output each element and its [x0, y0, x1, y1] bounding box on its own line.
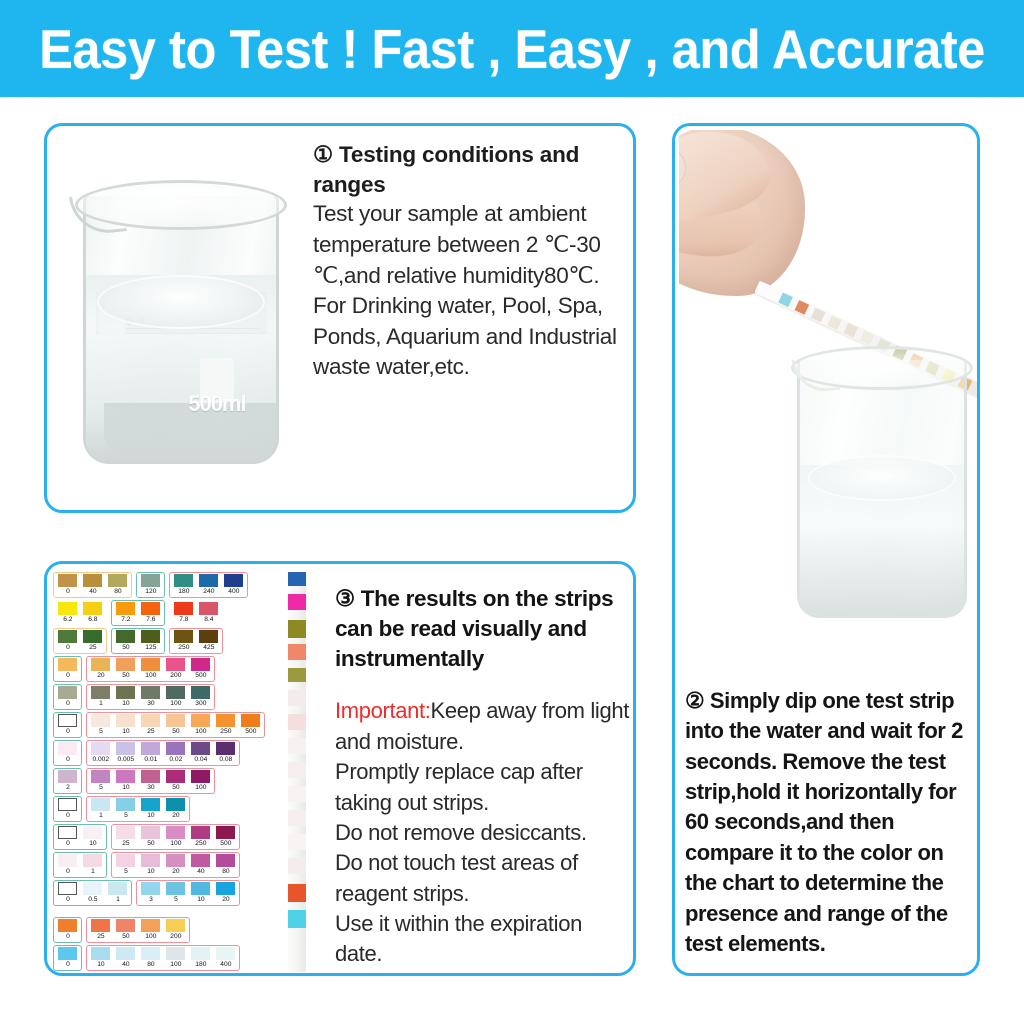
chart-swatch-cell: 250 — [213, 714, 238, 736]
chart-swatch-cell: 0 — [55, 919, 80, 941]
chart-swatch-cell: 0 — [55, 882, 80, 904]
color-swatch — [116, 798, 135, 811]
glass-illustration — [791, 342, 973, 632]
panel-results-reading: 040801201802404006.26.87.27.67.88.402550… — [44, 561, 636, 976]
chart-swatch-cell: 80 — [105, 574, 130, 596]
color-swatch — [141, 882, 160, 895]
chart-swatch-group: 010 — [53, 824, 107, 850]
hand-illustration — [679, 130, 805, 296]
chart-swatch-cell: 500 — [213, 826, 238, 848]
chart-row: 01510204080 — [53, 852, 295, 879]
swatch-value-label: 0.002 — [92, 755, 109, 764]
swatch-value-label: 7.2 — [121, 615, 130, 624]
swatch-value-label: 20 — [97, 671, 104, 680]
chart-swatch-cell: 80 — [213, 854, 238, 876]
color-swatch — [91, 686, 110, 699]
color-swatch — [191, 742, 210, 755]
chart-swatch-group: 2550100250500 — [111, 824, 240, 850]
chart-swatch-cell: 50 — [113, 658, 138, 680]
chart-swatch-group: 151020 — [86, 796, 190, 822]
swatch-value-label: 100 — [145, 671, 156, 680]
chart-row: 02550125250425 — [53, 628, 295, 655]
panel2-body: ② Simply dip one test strip into the wat… — [685, 686, 975, 959]
swatch-value-label: 100 — [145, 932, 156, 941]
strip-pad — [288, 910, 306, 928]
held-strip-pad — [778, 293, 793, 308]
chart-swatch-cell: 0 — [55, 686, 80, 708]
header-banner: Easy to Test ! Fast , Easy , and Accurat… — [0, 0, 1024, 97]
chart-swatch-cell: 40 — [113, 947, 138, 969]
color-swatch — [141, 574, 160, 587]
swatch-value-label: 50 — [122, 643, 129, 652]
panel3-body-line: Use it within the expiration — [335, 909, 631, 939]
color-swatch — [166, 658, 185, 671]
color-swatch — [58, 919, 77, 932]
chart-row: 25103050100 — [53, 768, 295, 795]
color-swatch — [199, 574, 218, 587]
swatch-value-label: 0 — [66, 587, 70, 596]
chart-swatch-group: 04080 — [53, 572, 132, 598]
page-title: Easy to Test ! Fast , Easy , and Accurat… — [39, 17, 985, 81]
glass-body — [797, 360, 967, 618]
chart-swatch-cell: 5 — [88, 770, 113, 792]
chart-swatch-group: 6.26.8 — [53, 600, 107, 626]
swatch-value-label: 500 — [245, 727, 256, 736]
swatch-value-label: 100 — [170, 839, 181, 848]
swatch-value-label: 0.01 — [144, 755, 157, 764]
panel1-body: Test your sample at ambient temperature … — [313, 199, 633, 383]
swatch-value-label: 30 — [147, 783, 154, 792]
chart-swatch-cell: 0.08 — [213, 742, 238, 764]
panel3-body-line: Promptly replace cap after — [335, 757, 631, 787]
chart-swatch-cell: 6.2 — [55, 602, 80, 624]
swatch-value-label: 5 — [99, 727, 103, 736]
chart-swatch-cell: 0 — [55, 947, 80, 969]
chart-swatch-cell: 100 — [163, 686, 188, 708]
swatch-value-label: 500 — [195, 671, 206, 680]
color-swatch — [141, 770, 160, 783]
color-swatch — [174, 630, 193, 643]
color-swatch — [141, 742, 160, 755]
swatch-value-label: 125 — [145, 643, 156, 652]
chart-swatch-cell: 7.8 — [171, 602, 196, 624]
swatch-value-label: 300 — [195, 699, 206, 708]
swatch-value-label: 250 — [178, 643, 189, 652]
chart-swatch-group: 0 — [53, 917, 82, 943]
chart-swatch-cell: 100 — [188, 714, 213, 736]
swatch-value-label: 0 — [66, 727, 70, 736]
strip-pad — [288, 858, 306, 874]
swatch-value-label: 0 — [66, 755, 70, 764]
chart-swatch-group: 120 — [136, 572, 165, 598]
swatch-value-label: 0 — [66, 699, 70, 708]
panel3-body-line: Do not remove desiccants. — [335, 818, 631, 848]
chart-swatch-group: 351020 — [136, 880, 240, 906]
chart-row: 02050100200500 — [53, 656, 295, 683]
chart-swatch-group: 00.51 — [53, 880, 132, 906]
color-swatch — [116, 854, 135, 867]
chart-swatch-cell: 0 — [55, 658, 80, 680]
chart-swatch-cell: 240 — [196, 574, 221, 596]
panel1-heading: ① Testing conditions and ranges — [313, 140, 633, 199]
swatch-value-label: 400 — [220, 960, 231, 969]
chart-swatch-cell: 5 — [163, 882, 188, 904]
color-swatch — [166, 686, 185, 699]
chart-swatch-cell: 10 — [138, 798, 163, 820]
color-swatch — [141, 947, 160, 960]
swatch-value-label: 3 — [149, 895, 153, 904]
swatch-value-label: 400 — [228, 587, 239, 596]
color-swatch — [224, 574, 243, 587]
held-strip-pad — [795, 300, 810, 315]
swatch-value-label: 6.8 — [88, 615, 97, 624]
chart-row: 02550100200 — [53, 917, 295, 944]
chart-swatch-cell: 100 — [163, 947, 188, 969]
chart-swatch-cell: 6.8 — [80, 602, 105, 624]
panel-dip-instructions: ② Simply dip one test strip into the wat… — [672, 123, 980, 976]
chart-swatch-cell: 5 — [113, 854, 138, 876]
swatch-value-label: 25 — [97, 932, 104, 941]
color-comparison-chart: 040801201802404006.26.87.27.67.88.402550… — [53, 572, 295, 973]
chart-swatch-group: 0 — [53, 656, 82, 682]
infographic-root: Easy to Test ! Fast , Easy , and Accurat… — [0, 0, 1024, 1024]
chart-row: 0102550100250500 — [53, 824, 295, 851]
swatch-value-label: 0 — [66, 671, 70, 680]
swatch-value-label: 500 — [220, 839, 231, 848]
swatch-value-label: 10 — [147, 867, 154, 876]
strip-pad — [288, 572, 306, 586]
strip-pad — [288, 714, 306, 730]
chart-swatch-cell: 125 — [138, 630, 163, 652]
swatch-value-label: 80 — [114, 587, 121, 596]
swatch-value-label: 0.5 — [88, 895, 97, 904]
color-swatch — [116, 630, 135, 643]
swatch-value-label: 0 — [66, 839, 70, 848]
swatch-value-label: 10 — [197, 895, 204, 904]
chart-row: 04080120180240400 — [53, 572, 295, 599]
color-swatch — [166, 826, 185, 839]
chart-swatch-cell: 20 — [163, 798, 188, 820]
color-swatch — [83, 882, 102, 895]
chart-swatch-cell: 10 — [138, 854, 163, 876]
color-swatch — [91, 714, 110, 727]
color-swatch — [216, 826, 235, 839]
chart-row: 05102550100250500 — [53, 712, 295, 739]
chart-swatch-cell: 50 — [163, 770, 188, 792]
swatch-value-label: 6.2 — [63, 615, 72, 624]
chart-swatch-cell: 0.02 — [163, 742, 188, 764]
chart-swatch-group: 0 — [53, 684, 82, 710]
strip-pad — [288, 668, 306, 682]
color-swatch — [58, 947, 77, 960]
chart-swatch-cell: 0.005 — [113, 742, 138, 764]
strip-pad — [288, 834, 306, 850]
chart-swatch-cell: 500 — [238, 714, 263, 736]
chart-swatch-cell: 10 — [113, 686, 138, 708]
chart-swatch-cell: 10 — [113, 770, 138, 792]
color-swatch — [166, 714, 185, 727]
swatch-value-label: 5 — [99, 783, 103, 792]
chart-swatch-group: 0 — [53, 712, 82, 738]
color-swatch — [58, 826, 77, 839]
chart-swatch-group: 5103050100 — [86, 768, 215, 794]
chart-swatch-group: 7.27.6 — [111, 600, 165, 626]
chart-swatch-cell: 7.2 — [113, 602, 138, 624]
swatch-value-label: 40 — [122, 960, 129, 969]
strip-pad — [288, 690, 306, 706]
color-swatch — [83, 574, 102, 587]
chart-swatch-group: 104080100180400 — [86, 945, 240, 971]
swatch-value-label: 100 — [195, 727, 206, 736]
color-swatch — [166, 770, 185, 783]
swatch-value-label: 425 — [203, 643, 214, 652]
beaker-body: 4 08 500ml — [83, 196, 279, 464]
swatch-value-label: 100 — [170, 960, 181, 969]
chart-swatch-cell: 50 — [113, 630, 138, 652]
swatch-value-label: 100 — [170, 699, 181, 708]
swatch-value-label: 0.005 — [117, 755, 134, 764]
chart-swatch-cell: 0.01 — [138, 742, 163, 764]
chart-swatch-cell: 0.002 — [88, 742, 113, 764]
chart-swatch-cell: 425 — [196, 630, 221, 652]
chart-swatch-cell: 200 — [163, 919, 188, 941]
color-swatch — [241, 714, 260, 727]
color-swatch — [191, 714, 210, 727]
chart-swatch-cell: 0.5 — [80, 882, 105, 904]
color-swatch — [191, 826, 210, 839]
chart-swatch-cell: 30 — [138, 686, 163, 708]
chart-swatch-group: 025 — [53, 628, 107, 654]
color-swatch — [191, 686, 210, 699]
swatch-value-label: 50 — [122, 671, 129, 680]
panel3-body: Important:Keep away from light and moist… — [335, 696, 631, 969]
swatch-value-label: 50 — [122, 932, 129, 941]
swatch-value-label: 0 — [66, 895, 70, 904]
strip-pad — [288, 810, 306, 826]
swatch-value-label: 10 — [147, 811, 154, 820]
swatch-value-label: 20 — [172, 867, 179, 876]
color-swatch — [91, 742, 110, 755]
chart-swatch-cell: 180 — [188, 947, 213, 969]
swatch-value-label: 7.8 — [179, 615, 188, 624]
chart-swatch-cell: 0 — [55, 854, 80, 876]
chart-swatch-group: 2050100200500 — [86, 656, 215, 682]
swatch-value-label: 1 — [91, 867, 95, 876]
strip-pad — [288, 884, 306, 902]
chart-swatch-group: 2 — [53, 768, 82, 794]
color-swatch — [191, 882, 210, 895]
chart-swatch-cell: 400 — [221, 574, 246, 596]
color-swatch — [216, 854, 235, 867]
color-swatch — [91, 947, 110, 960]
chart-swatch-cell: 20 — [213, 882, 238, 904]
chart-swatch-cell: 10 — [188, 882, 213, 904]
color-swatch — [166, 882, 185, 895]
color-swatch — [141, 658, 160, 671]
swatch-value-label: 7.6 — [146, 615, 155, 624]
beaker-illustration: 4 08 500ml — [75, 170, 287, 470]
swatch-value-label: 0 — [66, 811, 70, 820]
color-swatch — [141, 714, 160, 727]
color-swatch — [166, 947, 185, 960]
chart-swatch-cell: 250 — [171, 630, 196, 652]
color-swatch — [191, 658, 210, 671]
color-swatch — [191, 770, 210, 783]
chart-swatch-cell: 250 — [188, 826, 213, 848]
vertical-test-strip — [288, 572, 306, 972]
chart-swatch-cell: 50 — [113, 919, 138, 941]
color-swatch — [116, 947, 135, 960]
chart-swatch-cell: 1 — [88, 686, 113, 708]
color-swatch — [91, 658, 110, 671]
color-swatch — [166, 742, 185, 755]
swatch-value-label: 10 — [122, 783, 129, 792]
color-swatch — [58, 574, 77, 587]
color-swatch — [58, 770, 77, 783]
chart-swatch-cell: 0 — [55, 714, 80, 736]
swatch-value-label: 250 — [195, 839, 206, 848]
swatch-value-label: 0 — [66, 643, 70, 652]
chart-swatch-cell: 180 — [171, 574, 196, 596]
chart-swatch-cell: 30 — [138, 770, 163, 792]
important-label: Important: — [335, 698, 431, 723]
panel3-body-line: Do not touch test areas of — [335, 848, 631, 878]
panel3-body-line: taking out strips. — [335, 788, 631, 818]
swatch-value-label: 20 — [172, 811, 179, 820]
chart-swatch-cell: 2 — [55, 770, 80, 792]
chart-swatch-cell: 8.4 — [196, 602, 221, 624]
chart-swatch-cell: 5 — [88, 714, 113, 736]
chart-swatch-group: 0 — [53, 945, 82, 971]
swatch-value-label: 40 — [89, 587, 96, 596]
color-swatch — [116, 919, 135, 932]
chart-swatch-group: 510204080 — [111, 852, 240, 878]
chart-row: 0151020 — [53, 796, 295, 823]
color-swatch — [83, 630, 102, 643]
swatch-value-label: 200 — [170, 932, 181, 941]
strip-pad — [288, 594, 306, 610]
color-swatch — [199, 630, 218, 643]
chart-swatch-cell: 0 — [55, 826, 80, 848]
beaker-volume-label: 500ml — [188, 391, 245, 417]
color-swatch — [58, 742, 77, 755]
panel1-text-block: ① Testing conditions and ranges Test you… — [313, 140, 633, 383]
fingernail — [679, 135, 694, 196]
color-swatch — [216, 742, 235, 755]
swatch-value-label: 50 — [172, 727, 179, 736]
chart-swatch-group: 180240400 — [169, 572, 248, 598]
swatch-value-label: 0.04 — [194, 755, 207, 764]
swatch-value-label: 50 — [172, 783, 179, 792]
chart-swatch-cell: 1 — [80, 854, 105, 876]
swatch-value-label: 25 — [147, 727, 154, 736]
panel3-text-block: ③ The results on the strips can be read … — [335, 584, 631, 970]
color-swatch — [83, 826, 102, 839]
chart-swatch-cell: 25 — [80, 630, 105, 652]
strip-pad — [288, 786, 306, 802]
strip-pad — [288, 738, 306, 754]
glass-water — [800, 465, 964, 615]
color-swatch — [166, 919, 185, 932]
chart-swatch-cell: 0 — [55, 742, 80, 764]
chart-swatch-cell: 20 — [88, 658, 113, 680]
color-swatch — [91, 770, 110, 783]
chart-row: 0104080100180400 — [53, 945, 295, 972]
held-strip-pad — [827, 315, 842, 330]
color-swatch — [166, 854, 185, 867]
swatch-value-label: 80 — [147, 960, 154, 969]
color-swatch — [116, 686, 135, 699]
swatch-value-label: 5 — [124, 867, 128, 876]
color-swatch — [83, 854, 102, 867]
strip-pad — [288, 762, 306, 778]
color-swatch — [58, 686, 77, 699]
strip-pad — [288, 644, 306, 660]
swatch-value-label: 0 — [66, 867, 70, 876]
chart-swatch-cell: 500 — [188, 658, 213, 680]
color-swatch — [116, 658, 135, 671]
color-swatch — [58, 602, 77, 615]
chart-swatch-cell: 40 — [80, 574, 105, 596]
chart-swatch-cell: 200 — [163, 658, 188, 680]
chart-swatch-group: 01 — [53, 852, 107, 878]
beaker-spout — [69, 191, 127, 236]
panel-testing-conditions: 4 08 500ml ① Testing conditions and rang… — [44, 123, 636, 513]
color-swatch — [58, 630, 77, 643]
color-swatch — [116, 742, 135, 755]
chart-swatch-cell: 300 — [188, 686, 213, 708]
color-swatch — [91, 919, 110, 932]
color-swatch — [116, 826, 135, 839]
color-swatch — [166, 798, 185, 811]
swatch-value-label: 10 — [97, 960, 104, 969]
swatch-value-label: 100 — [195, 783, 206, 792]
swatch-value-label: 250 — [220, 727, 231, 736]
chart-swatch-cell: 400 — [213, 947, 238, 969]
color-swatch — [116, 714, 135, 727]
chart-swatch-cell: 10 — [88, 947, 113, 969]
color-swatch — [191, 854, 210, 867]
color-swatch — [58, 658, 77, 671]
swatch-value-label: 8.4 — [204, 615, 213, 624]
chart-swatch-cell: 1 — [105, 882, 130, 904]
swatch-value-label: 0.02 — [169, 755, 182, 764]
chart-swatch-cell: 25 — [138, 714, 163, 736]
chart-swatch-group: 5102550100250500 — [86, 712, 265, 738]
water-surface-ellipse — [97, 275, 264, 329]
swatch-value-label: 10 — [89, 839, 96, 848]
color-swatch — [108, 882, 127, 895]
swatch-value-label: 1 — [116, 895, 120, 904]
color-swatch — [191, 947, 210, 960]
color-swatch — [199, 602, 218, 615]
hand-and-glass-photo — [679, 130, 977, 670]
color-swatch — [141, 602, 160, 615]
chart-swatch-cell: 25 — [113, 826, 138, 848]
color-swatch — [141, 798, 160, 811]
color-swatch — [58, 882, 77, 895]
swatch-value-label: 0.08 — [219, 755, 232, 764]
color-swatch — [91, 798, 110, 811]
chart-swatch-cell: 0.04 — [188, 742, 213, 764]
chart-swatch-group: 7.88.4 — [169, 600, 223, 626]
chart-swatch-cell: 0 — [55, 630, 80, 652]
color-swatch — [216, 882, 235, 895]
chart-swatch-cell: 100 — [138, 658, 163, 680]
beaker-photo: 4 08 500ml — [53, 134, 305, 506]
chart-swatch-group: 0 — [53, 796, 82, 822]
color-swatch — [216, 947, 235, 960]
